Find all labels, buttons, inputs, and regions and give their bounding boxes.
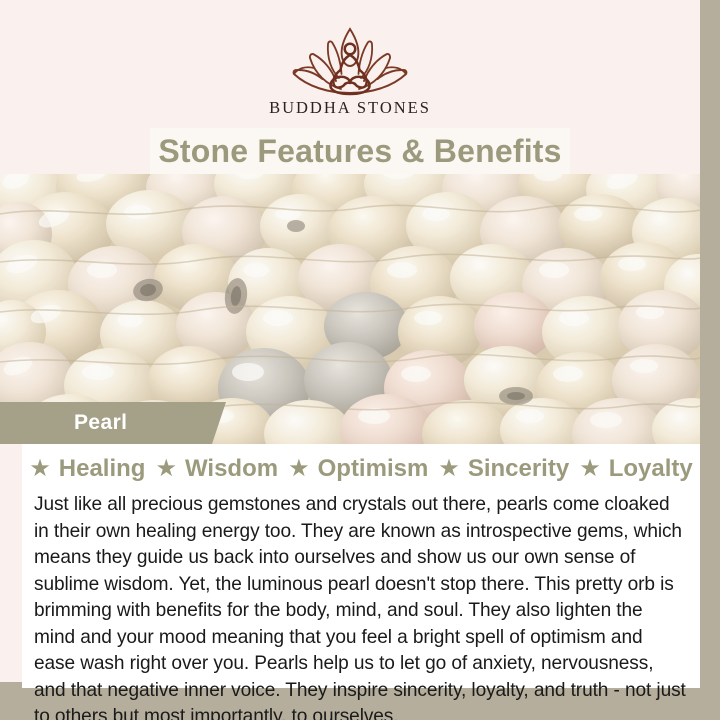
page-title-plaque: Stone Features & Benefits bbox=[150, 128, 570, 175]
benefit-label: Wisdom bbox=[185, 455, 278, 483]
description-paragraph: Just like all precious gemstones and cry… bbox=[32, 490, 690, 720]
brand-logo: BUDDHA STONES bbox=[0, 18, 700, 118]
header: BUDDHA STONES Stone Features & Benefits bbox=[0, 0, 700, 175]
benefit-label: Optimism bbox=[318, 455, 429, 483]
stone-name-banner: Pearl bbox=[0, 402, 226, 444]
lotus-meditating-figure-icon bbox=[275, 18, 425, 96]
content-panel: ★ Healing ★ Wisdom ★ Optimism ★ Sincerit… bbox=[22, 444, 700, 688]
benefit-item-wisdom: ★ Wisdom bbox=[145, 455, 278, 483]
benefit-item-healing: ★ Healing bbox=[29, 455, 145, 483]
benefits-list: ★ Healing ★ Wisdom ★ Optimism ★ Sincerit… bbox=[32, 444, 690, 490]
benefit-label: Healing bbox=[59, 455, 146, 483]
benefit-item-optimism: ★ Optimism bbox=[278, 455, 428, 483]
benefit-label: Loyalty bbox=[609, 455, 693, 483]
pearl-photo: Pearl bbox=[0, 174, 700, 444]
star-icon: ★ bbox=[438, 457, 460, 481]
brand-name: BUDDHA STONES bbox=[269, 98, 431, 118]
star-icon: ★ bbox=[288, 457, 310, 481]
stone-features-infographic: BUDDHA STONES Stone Features & Benefits bbox=[0, 0, 720, 720]
benefit-label: Sincerity bbox=[468, 455, 569, 483]
stone-name-label: Pearl bbox=[74, 411, 127, 435]
benefit-item-sincerity: ★ Sincerity bbox=[428, 455, 569, 483]
page-title: Stone Features & Benefits bbox=[158, 133, 561, 170]
star-icon: ★ bbox=[155, 457, 177, 481]
benefit-item-loyalty: ★ Loyalty bbox=[569, 455, 693, 483]
star-icon: ★ bbox=[29, 457, 51, 481]
star-icon: ★ bbox=[579, 457, 601, 481]
